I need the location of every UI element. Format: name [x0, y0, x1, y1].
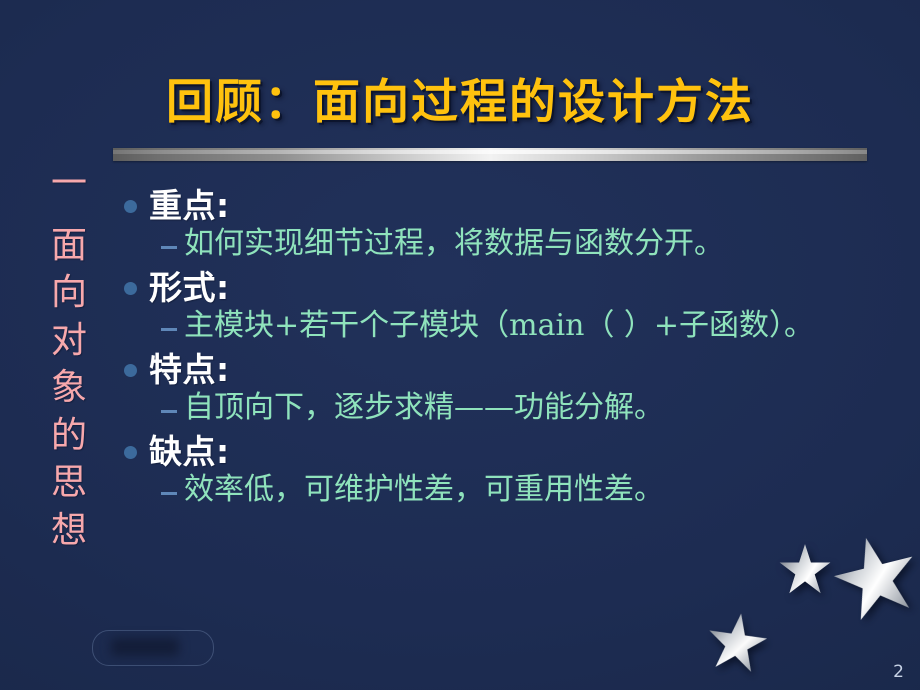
bullet-dot-icon — [124, 446, 137, 459]
bullet-group: 形式: 主模块+若干个子模块（main（ ）+子函数）。 — [124, 268, 904, 345]
bullet-row: 特点: — [124, 350, 904, 390]
bullet-group: 重点: 如何实现细节过程，将数据与函数分开。 — [124, 186, 904, 263]
sub-bullet-dash-icon — [161, 492, 177, 495]
slide-body-content: 重点: 如何实现细节过程，将数据与函数分开。 形式: 主模块+若干个子模块（ma… — [124, 186, 904, 514]
side-title-char: 想 — [38, 507, 100, 555]
sub-bullet-row: 主模块+若干个子模块（main（ ）+子函数）。 — [161, 307, 904, 345]
bullet-row: 缺点: — [124, 432, 904, 472]
side-title-char: 一 — [38, 160, 100, 208]
bullet-dot-icon — [124, 364, 137, 377]
side-title-char: 象 — [38, 364, 100, 412]
bullet-label: 缺点: — [149, 432, 230, 472]
sub-bullet-text: 主模块+若干个子模块（main（ ）+子函数）。 — [184, 307, 814, 345]
star-icon — [778, 543, 832, 597]
bullet-label: 特点: — [149, 350, 230, 390]
sub-bullet-dash-icon — [161, 410, 177, 413]
star-icon — [702, 608, 772, 678]
slide-title-block: 回顾：面向过程的设计方法 — [0, 78, 920, 127]
vertical-side-title: 一 面 向 对 象 的 思 想 — [38, 160, 100, 554]
sub-bullet-row: 效率低，可维护性差，可重用性差。 — [161, 471, 904, 509]
side-title-char: 思 — [38, 459, 100, 507]
star-icon — [824, 526, 920, 630]
title-divider-bar — [113, 148, 867, 161]
sub-bullet-text: 自顶向下，逐步求精——功能分解。 — [184, 389, 664, 427]
sub-bullet-text: 如何实现细节过程，将数据与函数分开。 — [184, 225, 724, 263]
sub-bullet-row: 自顶向下，逐步求精——功能分解。 — [161, 389, 904, 427]
sub-bullet-text: 效率低，可维护性差，可重用性差。 — [184, 471, 664, 509]
bullet-label: 形式: — [149, 268, 230, 308]
page-title: 回顾：面向过程的设计方法 — [166, 78, 754, 127]
side-title-char: 面 — [38, 222, 100, 270]
side-title-char: 的 — [38, 412, 100, 460]
bullet-dot-icon — [124, 200, 137, 213]
sub-bullet-row: 如何实现细节过程，将数据与函数分开。 — [161, 225, 904, 263]
bullet-label: 重点: — [149, 186, 230, 226]
redacted-blur — [111, 638, 179, 656]
bullet-row: 形式: — [124, 268, 904, 308]
bullet-group: 缺点: 效率低，可维护性差，可重用性差。 — [124, 432, 904, 509]
presentation-slide: 回顾：面向过程的设计方法 一 面 向 对 象 的 思 想 重点: 如何实现细节过… — [0, 0, 920, 690]
sub-bullet-dash-icon — [161, 328, 177, 331]
bullet-row: 重点: — [124, 186, 904, 226]
side-title-char: 对 — [38, 317, 100, 365]
side-title-char: 向 — [38, 269, 100, 317]
page-number: 2 — [893, 662, 904, 682]
bullet-dot-icon — [124, 282, 137, 295]
bullet-group: 特点: 自顶向下，逐步求精——功能分解。 — [124, 350, 904, 427]
side-title-spacer — [38, 208, 100, 222]
sub-bullet-dash-icon — [161, 246, 177, 249]
redacted-placeholder — [92, 630, 214, 666]
